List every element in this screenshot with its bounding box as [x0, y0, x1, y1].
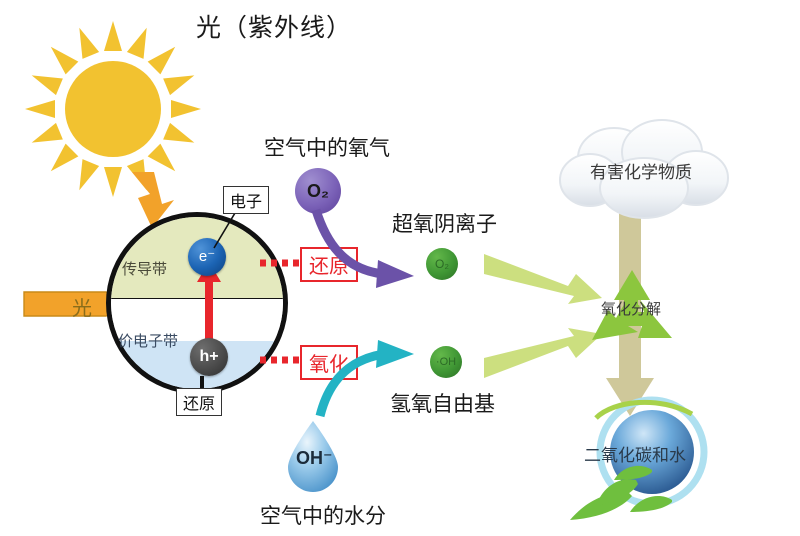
- sun-ray: [163, 67, 198, 95]
- hole-particle: h+: [190, 338, 228, 376]
- hydroxyl-particle: ·OH: [430, 346, 462, 378]
- sun-ray: [104, 167, 122, 197]
- conduction-band-label: 传导带: [122, 258, 167, 279]
- hole-callout-box: 还原: [176, 388, 222, 416]
- hydroxyl-label: 氢氧自由基: [390, 388, 495, 418]
- superoxide-particle: O₂: [426, 248, 458, 280]
- sun-ray: [28, 123, 63, 151]
- photocatalysis-diagram: 光（紫外线） /*rays injected*/ 光 传导带 价电子带 e⁻ 电…: [0, 0, 800, 536]
- hole-symbol: h+: [190, 338, 228, 376]
- superoxide-label: 超氧阴离子: [392, 208, 497, 238]
- sun-ray: [71, 24, 99, 59]
- sun-core: [65, 61, 161, 157]
- sun-ray: [44, 144, 78, 178]
- sun-ray: [28, 67, 63, 95]
- sun-ray: [71, 159, 99, 194]
- sun-ray: [163, 123, 198, 151]
- page-title: 光（紫外线）: [196, 8, 352, 44]
- water-symbol: OH⁻: [296, 448, 333, 469]
- sun-ray: [171, 100, 201, 118]
- sun-ray: [104, 21, 122, 51]
- recycle-label: 氧化分解: [601, 298, 661, 319]
- superoxide-symbol: O₂: [426, 248, 458, 280]
- light-arrow-label: 光: [72, 292, 92, 321]
- hydroxyl-symbol: ·OH: [430, 346, 462, 378]
- oxygen-label: 空气中的氧气: [264, 132, 390, 162]
- earth-label: 二氧化碳和水: [584, 441, 686, 466]
- sun-ray: [148, 40, 182, 74]
- sun-ray: [44, 40, 78, 74]
- sun-ray: [25, 100, 55, 118]
- water-label: 空气中的水分: [260, 500, 386, 530]
- sun-ray: [127, 24, 155, 59]
- valence-band-label: 价电子带: [118, 330, 178, 351]
- cloud-label: 有害化学物质: [590, 158, 692, 183]
- electron-callout-box: 电子: [223, 186, 269, 214]
